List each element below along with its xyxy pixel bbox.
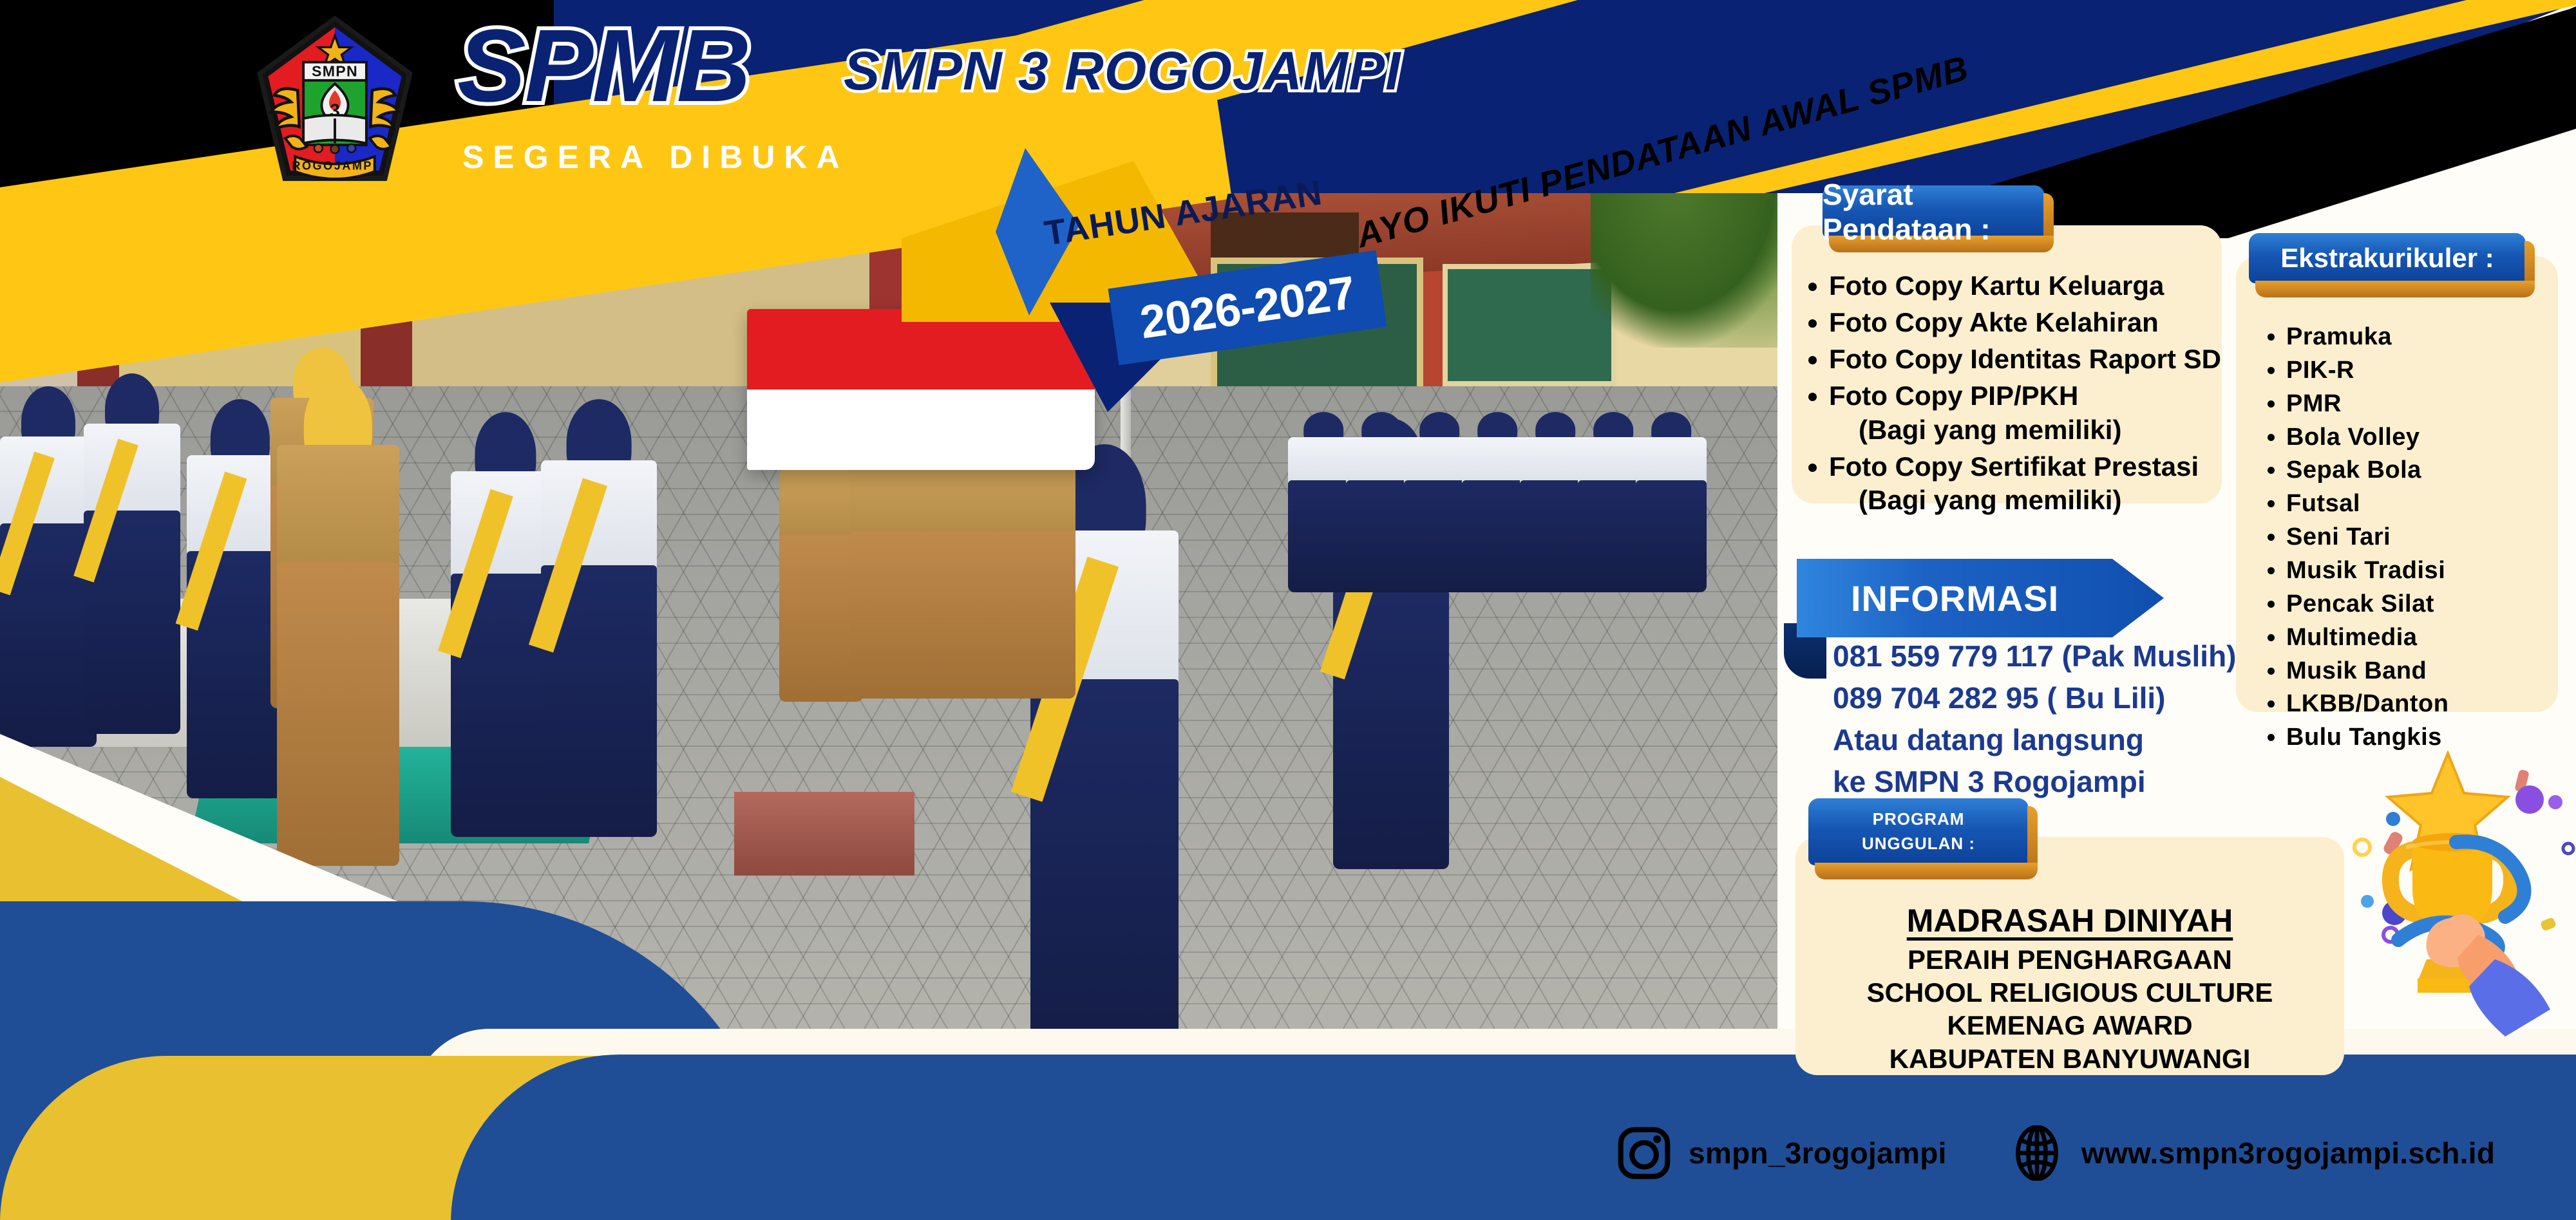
ekstrakurikuler-list: Pramuka PIK-R PMR Bola Volley Sepak Bola… <box>2286 321 2563 755</box>
list-item: Pramuka <box>2286 321 2563 354</box>
svg-text:SMPN: SMPN <box>312 62 358 79</box>
ekstrakurikuler-tab: Ekstrakurikuler : <box>2249 233 2526 283</box>
page-subtitle: SEGERA DIBUKA <box>462 138 849 176</box>
list-item: Seni Tari <box>2286 521 2563 554</box>
informasi-line: Atau datang langsung <box>1833 721 2297 759</box>
syarat-item-text: Foto Copy Akte Kelahiran <box>1829 307 2159 337</box>
list-item: Pencak Silat <box>2286 588 2563 621</box>
syarat-pendataan-list: Foto Copy Kartu Keluarga Foto Copy Akte … <box>1829 269 2241 520</box>
program-line: KEMENAG AWARD <box>1803 1009 2336 1042</box>
program-line: KABUPATEN BANYUWANGI <box>1803 1042 2336 1075</box>
instagram-handle: smpn_3rogojampi <box>1689 1136 1947 1170</box>
list-item: Foto Copy Identitas Raport SD <box>1829 343 2241 377</box>
syarat-pendataan-tab: Syarat Pendataan : <box>1823 185 2045 238</box>
program-unggulan-tab: PROGRAM UNGGULAN : <box>1808 798 2029 865</box>
footer-bar: smpn_3rogojampi www.smpn3rogojampi.sch.i… <box>0 1107 2576 1220</box>
program-unggulan-tab-line1: PROGRAM <box>1873 807 1965 832</box>
program-headline: MADRASAH DINIYAH <box>1803 901 2336 941</box>
list-item: LKBB/Danton <box>2286 688 2563 721</box>
informasi-line: 089 704 282 95 ( Bu Lili) <box>1833 679 2297 717</box>
syarat-item-text: Foto Copy Kartu Keluarga <box>1829 270 2164 301</box>
program-line: PERAIH PENGHARGAAN <box>1803 943 2336 976</box>
informasi-line: 081 559 779 117 (Pak Muslih) <box>1833 637 2297 675</box>
school-name: SMPN 3 ROGOJAMPI <box>844 40 1401 102</box>
school-crest-logo: SMPN 3 ROGOJAMPI <box>251 14 419 188</box>
syarat-item-text: Foto Copy PIP/PKH <box>1829 380 2078 411</box>
program-unggulan-tab-line2: UNGGULAN : <box>1862 832 1975 856</box>
list-item: Futsal <box>2286 487 2563 521</box>
informasi-contact-block: 081 559 779 117 (Pak Muslih) 089 704 282… <box>1833 637 2297 805</box>
poster-root: SMPN 3 ROGOJAMPI SPMB SEGERA DIBUKA SMPN… <box>0 0 2576 1220</box>
list-item: Foto Copy Akte Kelahiran <box>1829 306 2241 340</box>
instagram-icon <box>1616 1125 1672 1181</box>
list-item: Foto Copy Sertifikat Prestasi (Bagi yang… <box>1829 450 2241 518</box>
svg-text:ROGOJAMPI: ROGOJAMPI <box>292 160 377 173</box>
syarat-pendataan-tab-label: Syarat Pendataan : <box>1823 177 2045 247</box>
informasi-ribbon: INFORMASI <box>1797 559 2164 637</box>
list-item: Multimedia <box>2286 621 2563 655</box>
list-item: PIK-R <box>2286 354 2563 388</box>
globe-icon <box>2009 1125 2065 1181</box>
informasi-ribbon-label: INFORMASI <box>1851 577 2059 619</box>
syarat-item-note: (Bagi yang memiliki) <box>1829 413 2241 447</box>
informasi-line: ke SMPN 3 Rogojampi <box>1833 763 2297 801</box>
list-item: Foto Copy Kartu Keluarga <box>1829 269 2241 303</box>
syarat-item-text: Foto Copy Sertifikat Prestasi <box>1829 451 2199 482</box>
list-item: Musik Tradisi <box>2286 554 2563 588</box>
list-item: Bulu Tangkis <box>2286 721 2563 755</box>
ekstrakurikuler-tab-label: Ekstrakurikuler : <box>2280 243 2494 274</box>
list-item: Musik Band <box>2286 655 2563 688</box>
syarat-item-text: Foto Copy Identitas Raport SD <box>1829 344 2221 374</box>
page-title: SPMB <box>457 6 750 125</box>
footer-instagram[interactable]: smpn_3rogojampi <box>1616 1125 1947 1181</box>
list-item: Sepak Bola <box>2286 454 2563 487</box>
list-item: PMR <box>2286 388 2563 421</box>
footer-website[interactable]: www.smpn3rogojampi.sch.id <box>2009 1125 2495 1181</box>
program-unggulan-body: MADRASAH DINIYAH PERAIH PENGHARGAAN SCHO… <box>1803 901 2336 1075</box>
syarat-item-note: (Bagi yang memiliki) <box>1829 483 2241 518</box>
list-item: Bola Volley <box>2286 421 2563 455</box>
list-item: Foto Copy PIP/PKH (Bagi yang memiliki) <box>1829 379 2241 447</box>
program-line: SCHOOL RELIGIOUS CULTURE <box>1803 976 2336 1009</box>
website-url: www.smpn3rogojampi.sch.id <box>2081 1136 2495 1170</box>
